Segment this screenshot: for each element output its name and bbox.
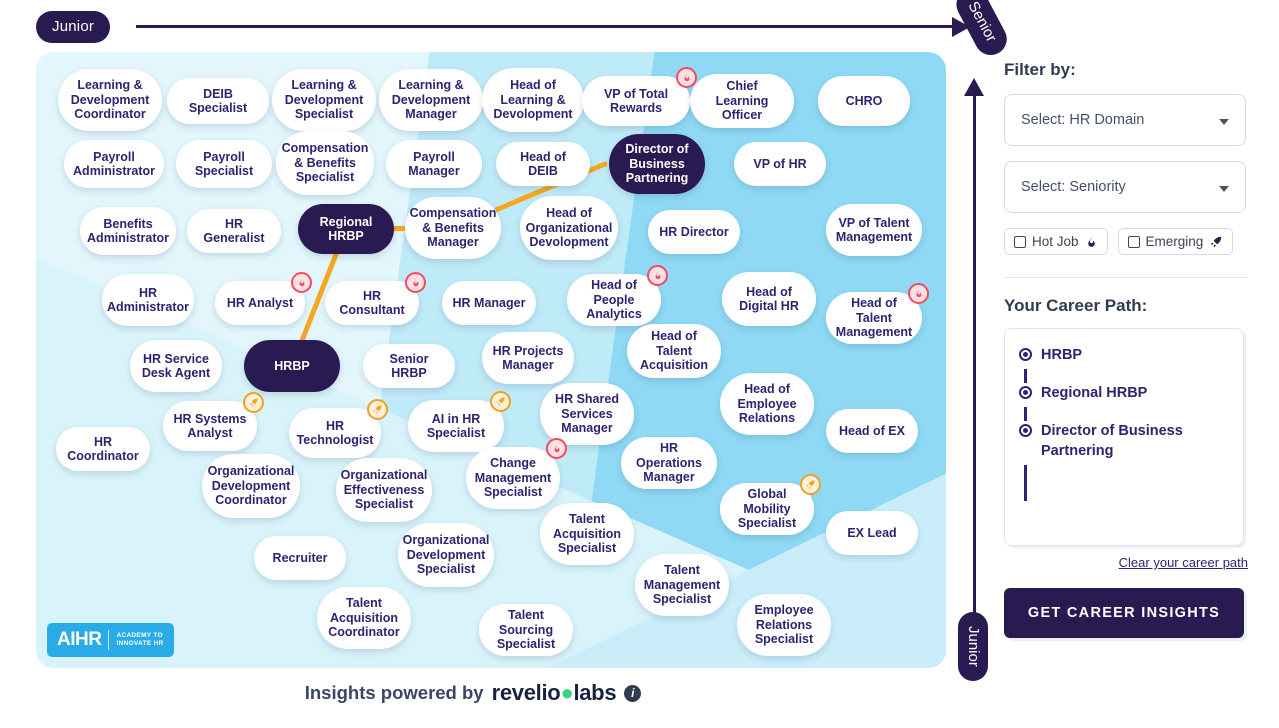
labs-word: labs	[573, 680, 616, 705]
job-node-label: Organizational Effectiveness Specialist	[341, 468, 428, 512]
career-path-connector	[1024, 465, 1027, 501]
aihr-logo-divider	[108, 630, 109, 650]
seniority-axis-vertical: Senior Junior	[948, 0, 1004, 676]
job-node-label: AI in HR Specialist	[418, 412, 494, 441]
job-node[interactable]: Head of People Analytics	[567, 274, 661, 326]
job-node[interactable]: HR Manager	[442, 281, 536, 325]
job-node[interactable]: Talent Management Specialist	[635, 554, 729, 616]
career-path-connector	[1024, 369, 1027, 383]
job-node[interactable]: HR Director	[648, 210, 740, 254]
job-node-label: Head of Employee Relations	[730, 382, 804, 426]
job-node-label: HR Analyst	[227, 296, 293, 311]
job-node-label: Talent Sourcing Specialist	[489, 608, 563, 652]
emerging-badge-rocket-icon	[800, 474, 821, 495]
job-node-label: DEIB Specialist	[177, 87, 259, 116]
hot-job-badge-flame-icon	[647, 265, 668, 286]
aihr-logo-subtitle-2: INNOVATE HR	[116, 640, 163, 649]
job-node[interactable]: Learning & Development Manager	[379, 69, 483, 131]
job-node[interactable]: HR Technologist	[289, 408, 381, 458]
career-path-step[interactable]: Regional HRBP	[1019, 383, 1229, 403]
job-node-label: Payroll Administrator	[73, 150, 155, 179]
job-node-label: HR Shared Services Manager	[550, 392, 624, 436]
revelio-dot-icon: ●	[560, 680, 573, 705]
job-node[interactable]: EX Lead	[826, 511, 918, 555]
job-node-label: CHRO	[846, 94, 883, 109]
career-path-step-label: Director of Business Partnering	[1041, 421, 1229, 461]
job-node[interactable]: Organizational Development Specialist	[398, 523, 494, 587]
job-node[interactable]: Senior HRBP	[363, 344, 455, 388]
job-node-label: VP of HR	[753, 157, 806, 172]
job-node[interactable]: Head of Talent Acquisition	[627, 324, 721, 378]
job-node[interactable]: Change Management Specialist	[466, 447, 560, 509]
info-icon[interactable]: i	[624, 685, 641, 702]
job-node-label: HR Coordinator	[66, 435, 140, 464]
job-node[interactable]: DEIB Specialist	[167, 78, 269, 124]
job-node[interactable]: VP of HR	[734, 142, 826, 186]
job-node[interactable]: HR Coordinator	[56, 427, 150, 471]
filter-by-heading: Filter by:	[1004, 60, 1248, 80]
sidebar-divider	[1004, 277, 1248, 278]
hot-job-label: Hot Job	[1032, 234, 1079, 249]
job-node-label: Head of Talent Acquisition	[637, 329, 711, 373]
job-node[interactable]: Head of EX	[826, 409, 918, 453]
career-path-step-label: HRBP	[1041, 345, 1082, 365]
emerging-badge-rocket-icon	[243, 392, 264, 413]
job-node[interactable]: HR Projects Manager	[482, 332, 574, 384]
job-node-label: Learning & Development Manager	[389, 78, 473, 122]
job-node[interactable]: Payroll Manager	[386, 140, 482, 188]
job-node-label: Head of Organizational Devolopment	[526, 206, 613, 250]
job-node-label: Learning & Development Specialist	[282, 78, 366, 122]
job-node-label: Payroll Manager	[396, 150, 472, 179]
career-path-explorer: Junior Senior Junior Learning & Developm…	[0, 0, 1279, 728]
job-node-label: Director of Business Partnering	[619, 142, 695, 186]
job-node[interactable]: Learning & Development Specialist	[272, 69, 376, 131]
job-node[interactable]: Talent Acquisition Coordinator	[317, 587, 411, 649]
job-node-label: HR Director	[659, 225, 728, 240]
job-node[interactable]: HR Consultant	[325, 281, 419, 325]
rocket-icon	[1209, 235, 1223, 249]
chevron-down-icon	[1219, 186, 1229, 192]
job-node-label: EX Lead	[847, 526, 896, 541]
job-node[interactable]: Head of Learning & Devolopment	[482, 68, 584, 132]
job-node[interactable]: Head of Organizational Devolopment	[520, 196, 618, 260]
axis-arrow-vertical-icon	[964, 78, 984, 96]
job-node[interactable]: Regional HRBP	[298, 204, 394, 254]
job-node[interactable]: Payroll Specialist	[176, 140, 272, 188]
job-node-label: HR Systems Analyst	[173, 412, 247, 441]
job-node[interactable]: Recruiter	[254, 536, 346, 580]
emerging-badge-rocket-icon	[367, 399, 388, 420]
job-node[interactable]: Head of Digital HR	[722, 272, 816, 326]
career-path-heading: Your Career Path:	[1004, 296, 1248, 316]
job-node-label: Chief Learning Officer	[700, 79, 784, 123]
hr-domain-select[interactable]: Select: HR Domain	[1004, 94, 1246, 146]
job-node[interactable]: Talent Acquisition Specialist	[540, 503, 634, 565]
aihr-logo-mark: AIHR	[57, 629, 101, 651]
get-career-insights-button[interactable]: GET CAREER INSIGHTS	[1004, 588, 1244, 638]
hot-job-badge-flame-icon	[291, 272, 312, 293]
job-node-label: Learning & Development Coordinator	[68, 78, 152, 122]
job-node[interactable]: CHRO	[818, 76, 910, 126]
job-node[interactable]: Compensation & Benefits Specialist	[276, 131, 374, 195]
hot-job-filter[interactable]: Hot Job	[1004, 228, 1108, 255]
job-node[interactable]: VP of Talent Management	[826, 204, 922, 256]
job-node[interactable]: HR Systems Analyst	[163, 401, 257, 451]
seniority-select-value: Select: Seniority	[1021, 179, 1126, 195]
job-node-label: Head of DEIB	[506, 150, 580, 179]
job-node[interactable]: HR Shared Services Manager	[540, 383, 634, 445]
job-node-label: Employee Relations Specialist	[747, 603, 821, 647]
job-node[interactable]: Head of Employee Relations	[720, 373, 814, 435]
job-node[interactable]: HR Generalist	[187, 209, 281, 253]
revelio-word: revelio	[492, 680, 561, 705]
career-path-connector	[1024, 407, 1027, 421]
axis-label-senior: Senior	[951, 0, 1013, 61]
job-node-label: Talent Management Specialist	[644, 563, 720, 607]
job-node-label: Organizational Development Specialist	[403, 533, 490, 577]
axis-label-junior-side: Junior	[958, 612, 988, 681]
hr-domain-select-value: Select: HR Domain	[1021, 112, 1144, 128]
job-node[interactable]: Organizational Effectiveness Specialist	[336, 458, 432, 522]
job-node-label: Change Management Specialist	[475, 456, 551, 500]
flame-icon	[1085, 235, 1098, 249]
career-path-step[interactable]: Director of Business Partnering	[1019, 421, 1229, 461]
chevron-down-icon	[1219, 119, 1229, 125]
emerging-label: Emerging	[1146, 234, 1204, 249]
career-path-step[interactable]: HRBP	[1019, 345, 1229, 365]
job-node[interactable]: HRBP	[244, 340, 340, 392]
job-node-label: HR Manager	[453, 296, 526, 311]
clear-career-path-link[interactable]: Clear your career path	[1004, 555, 1248, 570]
emerging-checkbox[interactable]	[1128, 236, 1140, 248]
job-node-label: VP of Talent Management	[836, 216, 912, 245]
job-node-label: Head of Digital HR	[732, 285, 806, 314]
job-node-label: Payroll Specialist	[186, 150, 262, 179]
job-node[interactable]: Head of Talent Management	[826, 292, 922, 344]
job-node-label: Compensation & Benefits Manager	[410, 206, 497, 250]
job-node[interactable]: Director of Business Partnering	[609, 134, 705, 194]
hot-job-checkbox[interactable]	[1014, 236, 1026, 248]
job-node[interactable]: Head of DEIB	[496, 142, 590, 186]
job-node[interactable]: Employee Relations Specialist	[737, 594, 831, 656]
job-node-label: HR Administrator	[107, 286, 189, 315]
axis-line-vertical	[973, 95, 976, 615]
axis-line-horizontal	[136, 25, 956, 28]
footer-attribution: Insights powered by revelio●labs i	[0, 680, 946, 706]
step-radio-icon[interactable]	[1019, 424, 1032, 437]
job-node[interactable]: HR Service Desk Agent	[130, 340, 222, 392]
emerging-filter[interactable]: Emerging	[1118, 228, 1234, 255]
job-node[interactable]: Payroll Administrator	[64, 140, 164, 188]
job-node[interactable]: Learning & Development Coordinator	[58, 69, 162, 131]
job-node-label: HR Generalist	[197, 217, 271, 246]
aihr-logo: AIHR ACADEMY TO INNOVATE HR	[47, 623, 174, 657]
job-node-label: Regional HRBP	[308, 215, 384, 244]
revelio-labs-logo: revelio●labs	[492, 680, 617, 706]
job-node-label: Senior HRBP	[373, 352, 445, 381]
job-node-label: Recruiter	[273, 551, 328, 566]
footer-text: Insights powered by	[305, 682, 484, 704]
career-path-list: HRBPRegional HRBPDirector of Business Pa…	[1004, 328, 1244, 546]
career-path-step-label: Regional HRBP	[1041, 383, 1147, 403]
job-node[interactable]: Talent Sourcing Specialist	[479, 604, 573, 656]
job-node-label: Head of Talent Management	[836, 296, 912, 340]
job-node-label: Head of Learning & Devolopment	[492, 78, 574, 122]
job-node[interactable]: Benefits Administrator	[80, 207, 176, 255]
job-map-canvas[interactable]: Learning & Development CoordinatorDEIB S…	[36, 52, 946, 668]
hot-job-badge-flame-icon	[546, 438, 567, 459]
job-node-label: HR Projects Manager	[492, 344, 564, 373]
job-node-label: Organizational Development Coordinator	[208, 464, 295, 508]
job-node[interactable]: Compensation & Benefits Manager	[405, 197, 501, 259]
job-node[interactable]: HR Administrator	[102, 274, 194, 326]
job-node-label: Compensation & Benefits Specialist	[282, 141, 369, 185]
job-node[interactable]: AI in HR Specialist	[408, 400, 504, 452]
job-node-label: HRBP	[274, 359, 309, 374]
job-node-label: Benefits Administrator	[87, 217, 169, 246]
axis-label-junior-top: Junior	[36, 11, 110, 43]
job-node[interactable]: HR Operations Manager	[621, 437, 717, 489]
job-node[interactable]: HR Analyst	[215, 281, 305, 325]
job-node[interactable]: Global Mobility Specialist	[720, 483, 814, 535]
hot-job-badge-flame-icon	[908, 283, 929, 304]
job-node-label: Head of EX	[839, 424, 905, 439]
emerging-badge-rocket-icon	[490, 391, 511, 412]
hot-job-badge-flame-icon	[405, 272, 426, 293]
job-node-label: HR Service Desk Agent	[140, 352, 212, 381]
aihr-logo-subtitle-1: ACADEMY TO	[116, 632, 163, 641]
job-node-label: HR Consultant	[335, 289, 409, 318]
job-node-label: Global Mobility Specialist	[730, 487, 804, 531]
seniority-select[interactable]: Select: Seniority	[1004, 161, 1246, 213]
job-node[interactable]: Chief Learning Officer	[690, 74, 794, 128]
filter-chip-row: Hot Job Emerging	[1004, 228, 1248, 255]
job-node[interactable]: VP of Total Rewards	[582, 76, 690, 126]
job-node-label: VP of Total Rewards	[592, 87, 680, 116]
step-radio-icon[interactable]	[1019, 348, 1032, 361]
job-node-label: Head of People Analytics	[577, 278, 651, 322]
job-node-label: Talent Acquisition Specialist	[550, 512, 624, 556]
filters-sidebar: Filter by: Select: HR Domain Select: Sen…	[1004, 60, 1248, 638]
job-node[interactable]: Organizational Development Coordinator	[202, 454, 300, 518]
seniority-axis-horizontal: Junior	[36, 11, 936, 43]
job-node-label: Talent Acquisition Coordinator	[327, 596, 401, 640]
job-node-label: HR Operations Manager	[631, 441, 707, 485]
job-node-label: HR Technologist	[297, 419, 374, 448]
step-radio-icon[interactable]	[1019, 386, 1032, 399]
